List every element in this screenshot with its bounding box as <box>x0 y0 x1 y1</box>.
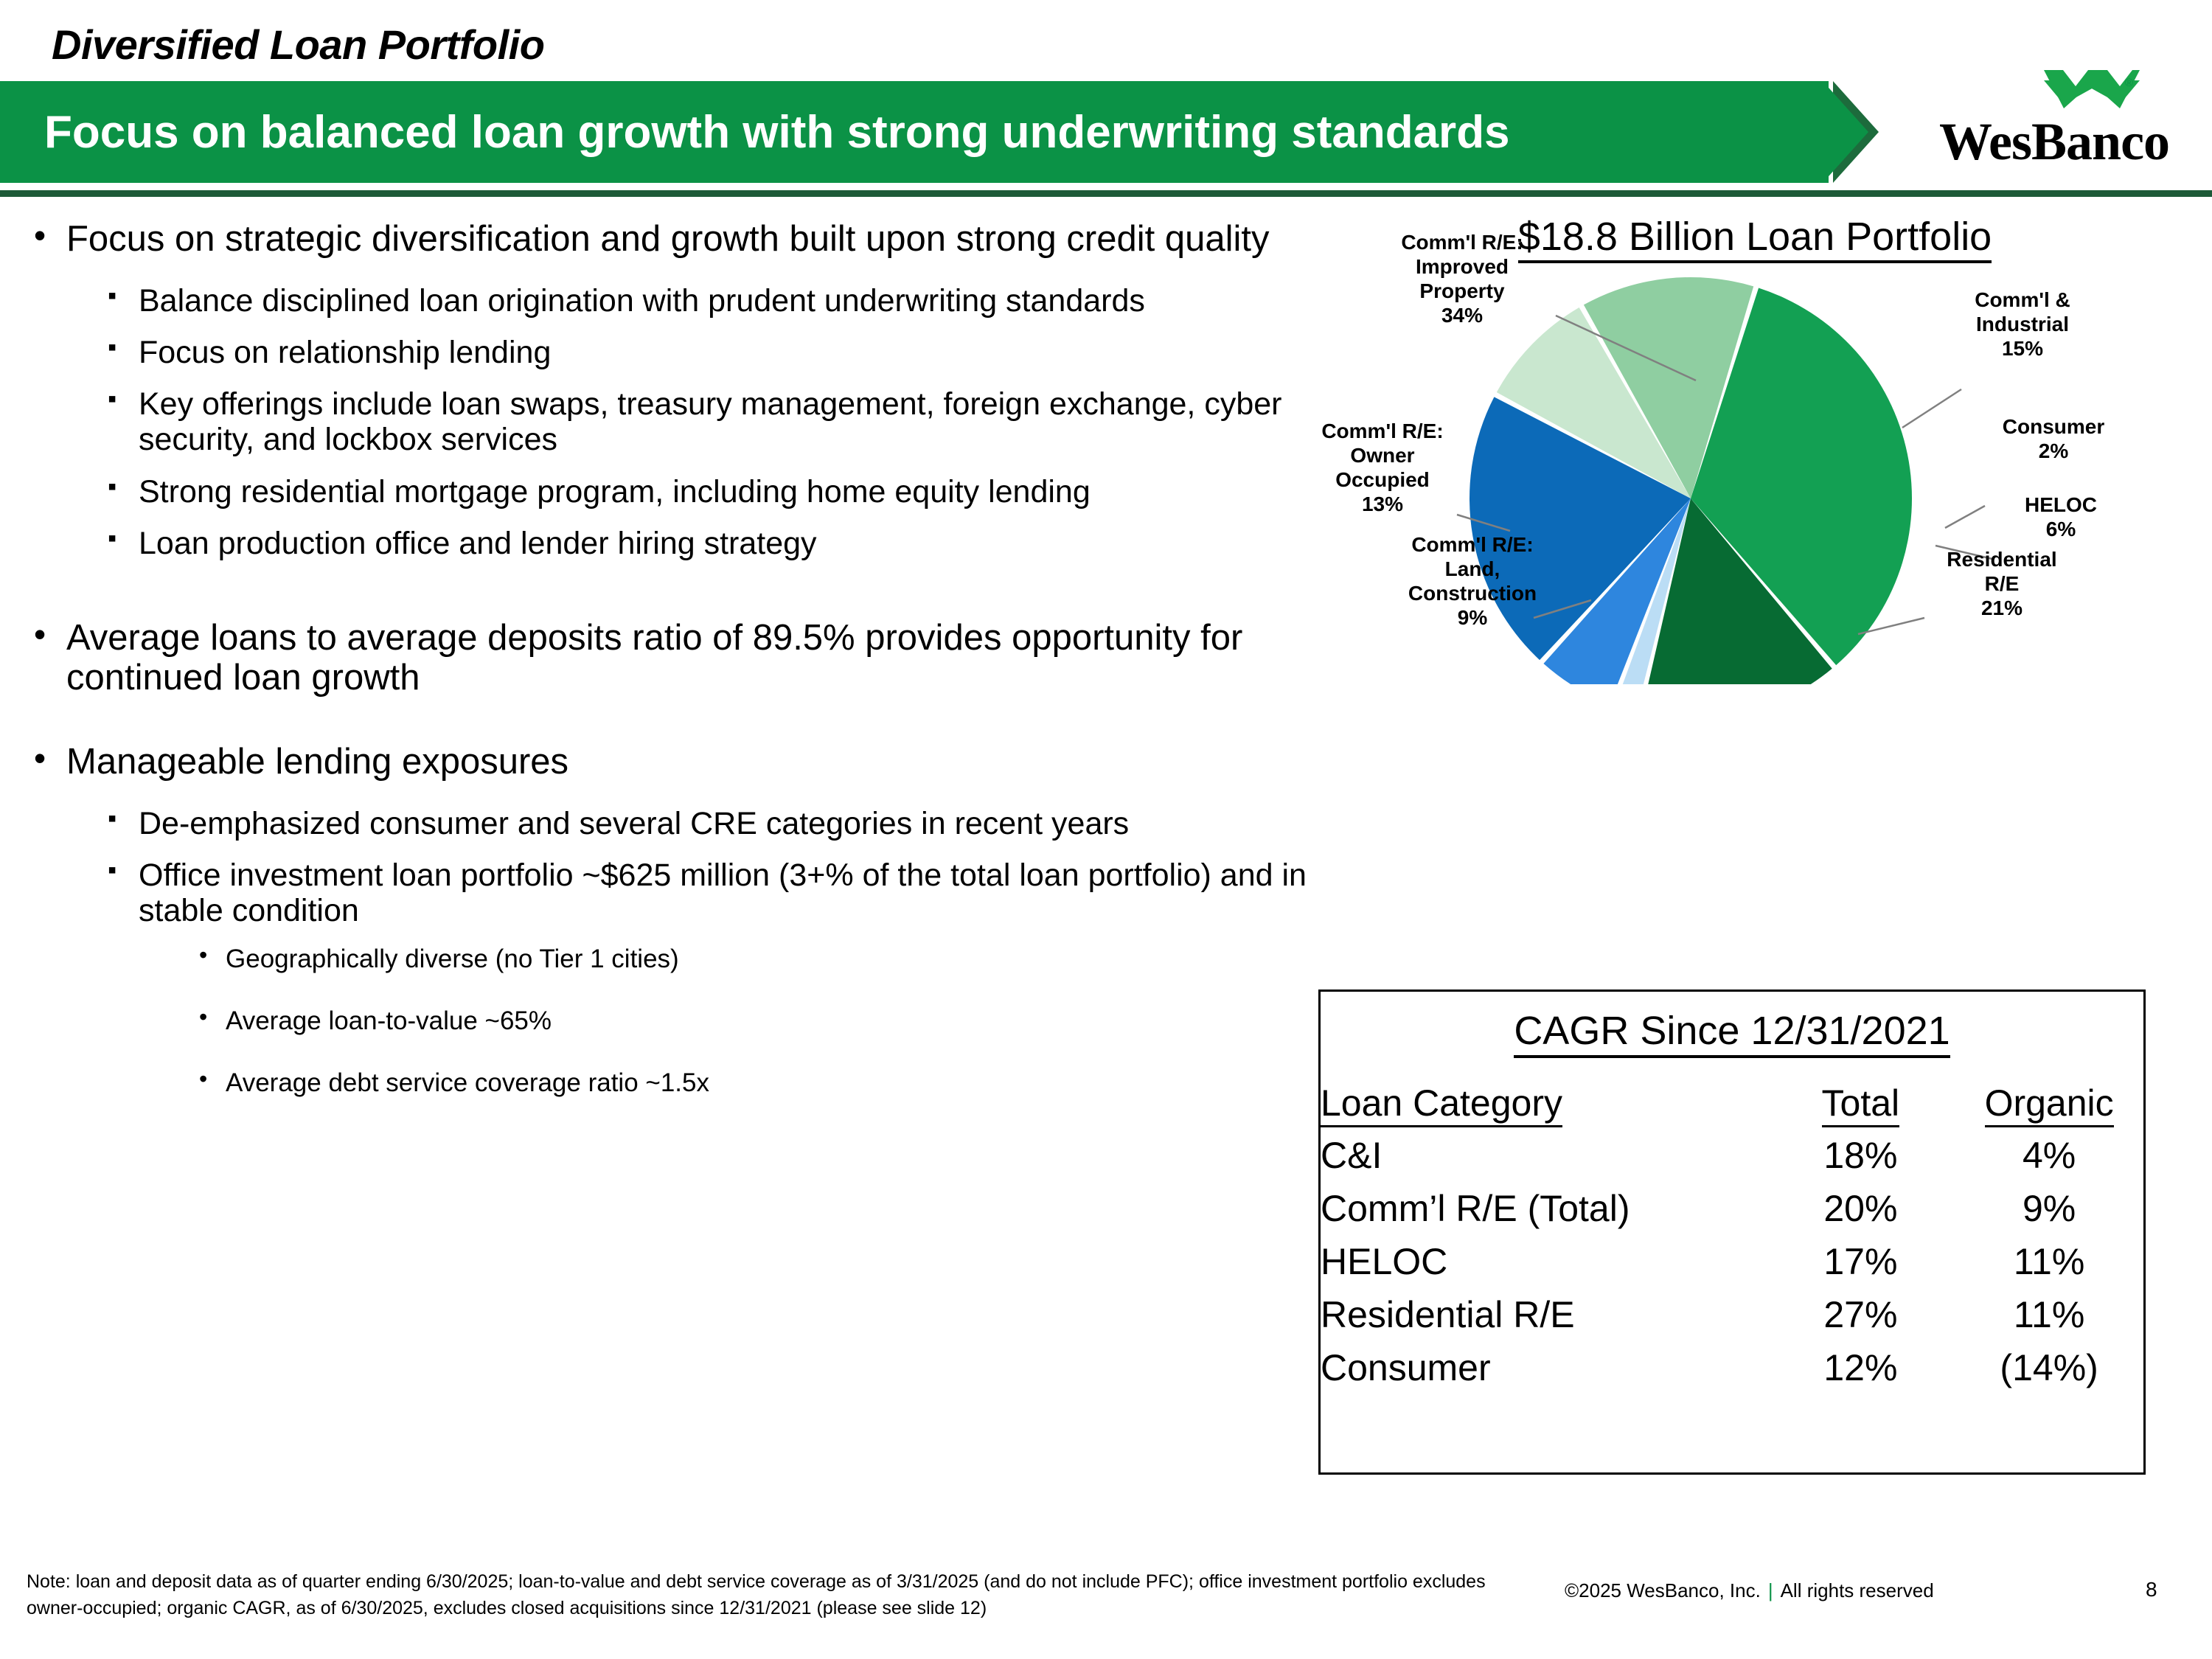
col-header-category: Loan Category <box>1321 1082 1767 1129</box>
cell-organic: 11% <box>1955 1288 2143 1341</box>
cell-category: C&I <box>1321 1129 1767 1182</box>
bullet-level2: Strong residential mortgage program, inc… <box>103 474 1329 509</box>
pie-label-consumer: Consumer 2% <box>1969 414 2138 463</box>
table-header-row: Loan Category Total Organic <box>1321 1082 2143 1129</box>
cell-total: 18% <box>1767 1129 1955 1182</box>
bullet-level3: Geographically diverse (no Tier 1 cities… <box>195 945 1329 974</box>
page-number: 8 <box>2146 1578 2157 1601</box>
table-row: C&I 18% 4% <box>1321 1129 2143 1182</box>
pie-label-heloc: HELOC 6% <box>1976 493 2146 541</box>
cell-total: 12% <box>1767 1341 1955 1394</box>
wesbanco-logo: ® WesBanco <box>1939 70 2183 181</box>
copyright-separator: | <box>1761 1579 1781 1601</box>
col-header-total: Total <box>1767 1082 1955 1129</box>
banner-arrow-tip <box>1823 81 1868 183</box>
bullet-level3: Average debt service coverage ratio ~1.5… <box>195 1068 1329 1098</box>
logo-wordmark: WesBanco <box>1939 111 2169 173</box>
cell-category: Consumer <box>1321 1341 1767 1394</box>
cell-organic: 9% <box>1955 1182 2143 1235</box>
page-title: Diversified Loan Portfolio <box>52 21 544 69</box>
section-banner: Focus on balanced loan growth with stron… <box>0 81 1888 183</box>
pie-label-commercial-industrial: Comm'l & Industrial 15% <box>1938 288 2107 361</box>
bullet-level2: Focus on relationship lending <box>103 335 1329 370</box>
cagr-title-text: CAGR Since 12/31/2021 <box>1514 1009 1950 1058</box>
footnote: Note: loan and deposit data as of quarte… <box>27 1569 1516 1621</box>
cagr-table-panel: CAGR Since 12/31/2021 Loan Category Tota… <box>1318 990 2146 1475</box>
cell-total: 27% <box>1767 1288 1955 1341</box>
rights-text: All rights reserved <box>1781 1579 1934 1601</box>
cell-total: 17% <box>1767 1235 1955 1288</box>
cell-organic: 11% <box>1955 1235 2143 1288</box>
bullet-level1: Average loans to average deposits ratio … <box>31 619 1329 698</box>
cell-category: Comm’l R/E (Total) <box>1321 1182 1767 1235</box>
registered-trademark-icon: ® <box>2125 77 2133 89</box>
cell-category: Residential R/E <box>1321 1288 1767 1341</box>
table-row: Comm’l R/E (Total) 20% 9% <box>1321 1182 2143 1235</box>
table-row: Residential R/E 27% 11% <box>1321 1288 2143 1341</box>
bullet-level2: Office investment loan portfolio ~$625 m… <box>103 858 1329 928</box>
bullet-level2: Balance disciplined loan origination wit… <box>103 283 1329 319</box>
spacer <box>31 264 1329 283</box>
bullet-list: Focus on strategic diversification and g… <box>31 220 1329 1131</box>
spacer <box>31 577 1329 619</box>
bullet-level3: Average loan-to-value ~65% <box>195 1006 1329 1036</box>
cagr-title: CAGR Since 12/31/2021 <box>1321 1008 2143 1054</box>
col-header-organic: Organic <box>1955 1082 2143 1129</box>
spacer <box>31 703 1329 742</box>
pie-label-commercial-re-improved: Comm'l R/E: Improved Property 34% <box>1377 230 1547 327</box>
cell-organic: (14%) <box>1955 1341 2143 1394</box>
bullet-level2: De-emphasized consumer and several CRE c… <box>103 806 1329 841</box>
spacer <box>31 787 1329 806</box>
copyright-notice: ©2025 WesBanco, Inc.|All rights reserved <box>1565 1579 1934 1602</box>
copyright-text: ©2025 WesBanco, Inc. <box>1565 1579 1761 1601</box>
chart-title-text: $18.8 Billion Loan Portfolio <box>1518 215 1992 263</box>
cell-total: 20% <box>1767 1182 1955 1235</box>
bullet-level1: Manageable lending exposures <box>31 742 1329 782</box>
pie-label-commercial-re-land: Comm'l R/E: Land, Construction 9% <box>1380 532 1565 630</box>
pie-label-residential-re: Residential R/E 21% <box>1917 547 2087 620</box>
bullet-level2: Loan production office and lender hiring… <box>103 526 1329 561</box>
bullet-level1: Focus on strategic diversification and g… <box>31 220 1329 260</box>
table-row: HELOC 17% 11% <box>1321 1235 2143 1288</box>
banner-heading: Focus on balanced loan growth with stron… <box>44 81 1510 183</box>
cagr-table: Loan Category Total Organic C&I 18% 4% C… <box>1321 1082 2143 1394</box>
cell-category: HELOC <box>1321 1235 1767 1288</box>
bullet-level2: Key offerings include loan swaps, treasu… <box>103 386 1329 457</box>
table-row: Consumer 12% (14%) <box>1321 1341 2143 1394</box>
loan-portfolio-chart: $18.8 Billion Loan Portfolio Comm'l R/E:… <box>1312 214 2197 686</box>
pie-label-commercial-re-owner: Comm'l R/E: Owner Occupied 13% <box>1298 419 1467 516</box>
header-divider <box>0 190 2212 197</box>
cell-organic: 4% <box>1955 1129 2143 1182</box>
